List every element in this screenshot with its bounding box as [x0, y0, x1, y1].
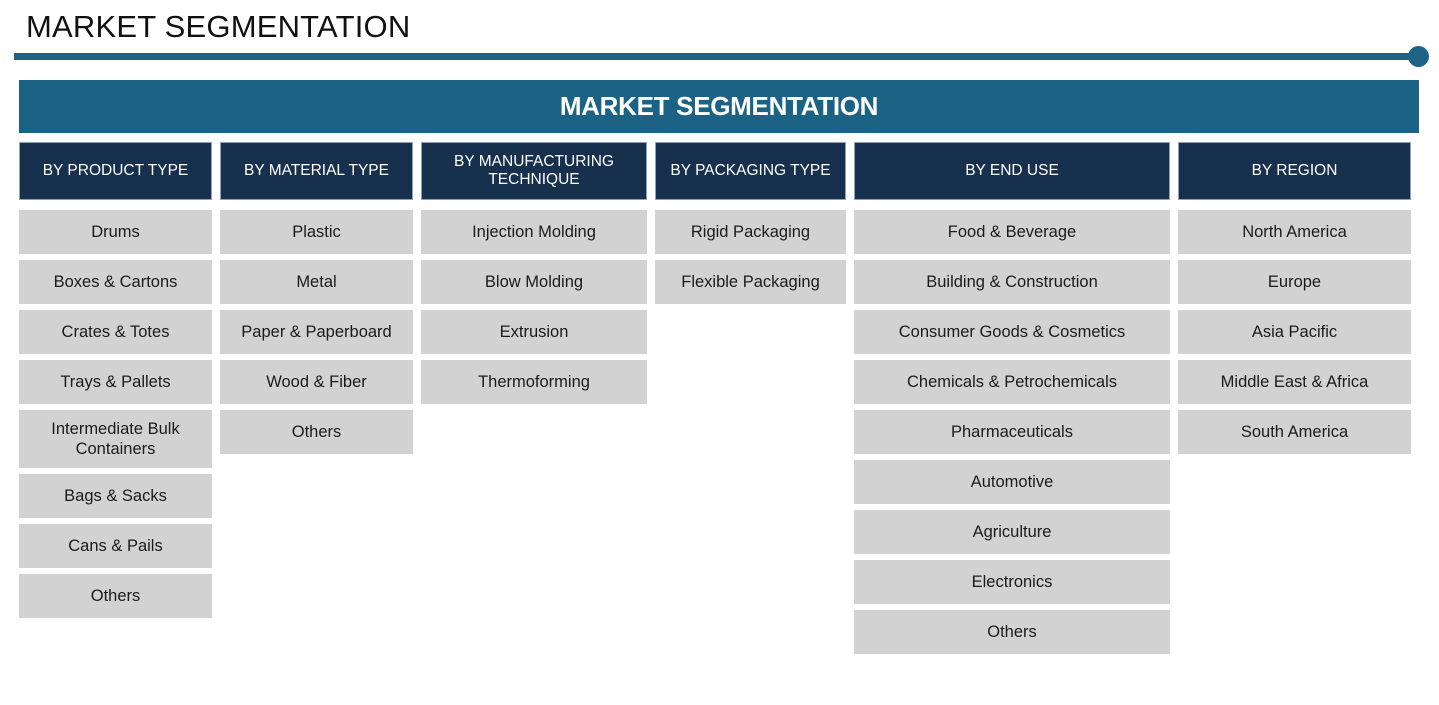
segment-item-intermediate-bulk-containers[interactable]: Intermediate Bulk Containers [19, 410, 212, 468]
segment-item-pharmaceuticals[interactable]: Pharmaceuticals [854, 410, 1170, 454]
segment-item-asia-pacific[interactable]: Asia Pacific [1178, 310, 1411, 354]
segment-item-food-beverage[interactable]: Food & Beverage [854, 210, 1170, 254]
column-items-by-material-type: PlasticMetalPaper & PaperboardWood & Fib… [220, 210, 413, 454]
banner-title: MARKET SEGMENTATION [560, 91, 878, 122]
column-items-by-packaging-type: Rigid PackagingFlexible Packaging [655, 210, 846, 304]
segment-item-boxes-cartons[interactable]: Boxes & Cartons [19, 260, 212, 304]
column-header-by-product-type[interactable]: BY PRODUCT TYPE [19, 142, 212, 200]
segment-item-middle-east-africa[interactable]: Middle East & Africa [1178, 360, 1411, 404]
segment-column-by-region: BY REGIONNorth AmericaEuropeAsia Pacific… [1178, 142, 1411, 454]
column-header-by-end-use[interactable]: BY END USE [854, 142, 1170, 200]
segment-item-automotive[interactable]: Automotive [854, 460, 1170, 504]
segment-item-blow-molding[interactable]: Blow Molding [421, 260, 647, 304]
segment-item-south-america[interactable]: South America [1178, 410, 1411, 454]
segment-item-rigid-packaging[interactable]: Rigid Packaging [655, 210, 846, 254]
segment-item-electronics[interactable]: Electronics [854, 560, 1170, 604]
column-items-by-manufacturing-technique: Injection MoldingBlow MoldingExtrusionTh… [421, 210, 647, 404]
segmentation-columns: BY PRODUCT TYPEDrumsBoxes & CartonsCrate… [19, 142, 1419, 654]
segment-item-chemicals-petrochemicals[interactable]: Chemicals & Petrochemicals [854, 360, 1170, 404]
segment-item-cans-pails[interactable]: Cans & Pails [19, 524, 212, 568]
segment-item-thermoforming[interactable]: Thermoforming [421, 360, 647, 404]
segment-item-wood-fiber[interactable]: Wood & Fiber [220, 360, 413, 404]
banner: MARKET SEGMENTATION [19, 80, 1419, 133]
segment-item-agriculture[interactable]: Agriculture [854, 510, 1170, 554]
column-header-by-manufacturing-technique[interactable]: BY MANUFACTURING TECHNIQUE [421, 142, 647, 200]
segment-item-building-construction[interactable]: Building & Construction [854, 260, 1170, 304]
segment-item-extrusion[interactable]: Extrusion [421, 310, 647, 354]
segment-item-plastic[interactable]: Plastic [220, 210, 413, 254]
segment-item-consumer-goods-cosmetics[interactable]: Consumer Goods & Cosmetics [854, 310, 1170, 354]
segment-item-others[interactable]: Others [19, 574, 212, 618]
segment-column-by-end-use: BY END USEFood & BeverageBuilding & Cons… [854, 142, 1170, 654]
column-header-by-material-type[interactable]: BY MATERIAL TYPE [220, 142, 413, 200]
segment-column-by-product-type: BY PRODUCT TYPEDrumsBoxes & CartonsCrate… [19, 142, 212, 618]
accent-rule [14, 53, 1420, 60]
segment-column-by-manufacturing-technique: BY MANUFACTURING TECHNIQUEInjection Mold… [421, 142, 647, 404]
segment-item-europe[interactable]: Europe [1178, 260, 1411, 304]
column-items-by-end-use: Food & BeverageBuilding & ConstructionCo… [854, 210, 1170, 654]
segment-item-drums[interactable]: Drums [19, 210, 212, 254]
segment-column-by-packaging-type: BY PACKAGING TYPERigid PackagingFlexible… [655, 142, 846, 304]
column-items-by-region: North AmericaEuropeAsia PacificMiddle Ea… [1178, 210, 1411, 454]
column-header-by-region[interactable]: BY REGION [1178, 142, 1411, 200]
segment-item-crates-totes[interactable]: Crates & Totes [19, 310, 212, 354]
slide-canvas: MARKET SEGMENTATION MARKET SEGMENTATION … [0, 0, 1439, 705]
segment-item-injection-molding[interactable]: Injection Molding [421, 210, 647, 254]
segment-item-others[interactable]: Others [220, 410, 413, 454]
segment-column-by-material-type: BY MATERIAL TYPEPlasticMetalPaper & Pape… [220, 142, 413, 454]
segment-item-metal[interactable]: Metal [220, 260, 413, 304]
accent-dot-icon [1408, 46, 1429, 67]
segment-item-flexible-packaging[interactable]: Flexible Packaging [655, 260, 846, 304]
segment-item-trays-pallets[interactable]: Trays & Pallets [19, 360, 212, 404]
column-header-by-packaging-type[interactable]: BY PACKAGING TYPE [655, 142, 846, 200]
segment-item-paper-paperboard[interactable]: Paper & Paperboard [220, 310, 413, 354]
column-items-by-product-type: DrumsBoxes & CartonsCrates & TotesTrays … [19, 210, 212, 618]
segment-item-north-america[interactable]: North America [1178, 210, 1411, 254]
segment-item-others[interactable]: Others [854, 610, 1170, 654]
segment-item-bags-sacks[interactable]: Bags & Sacks [19, 474, 212, 518]
page-title: MARKET SEGMENTATION [26, 9, 410, 45]
